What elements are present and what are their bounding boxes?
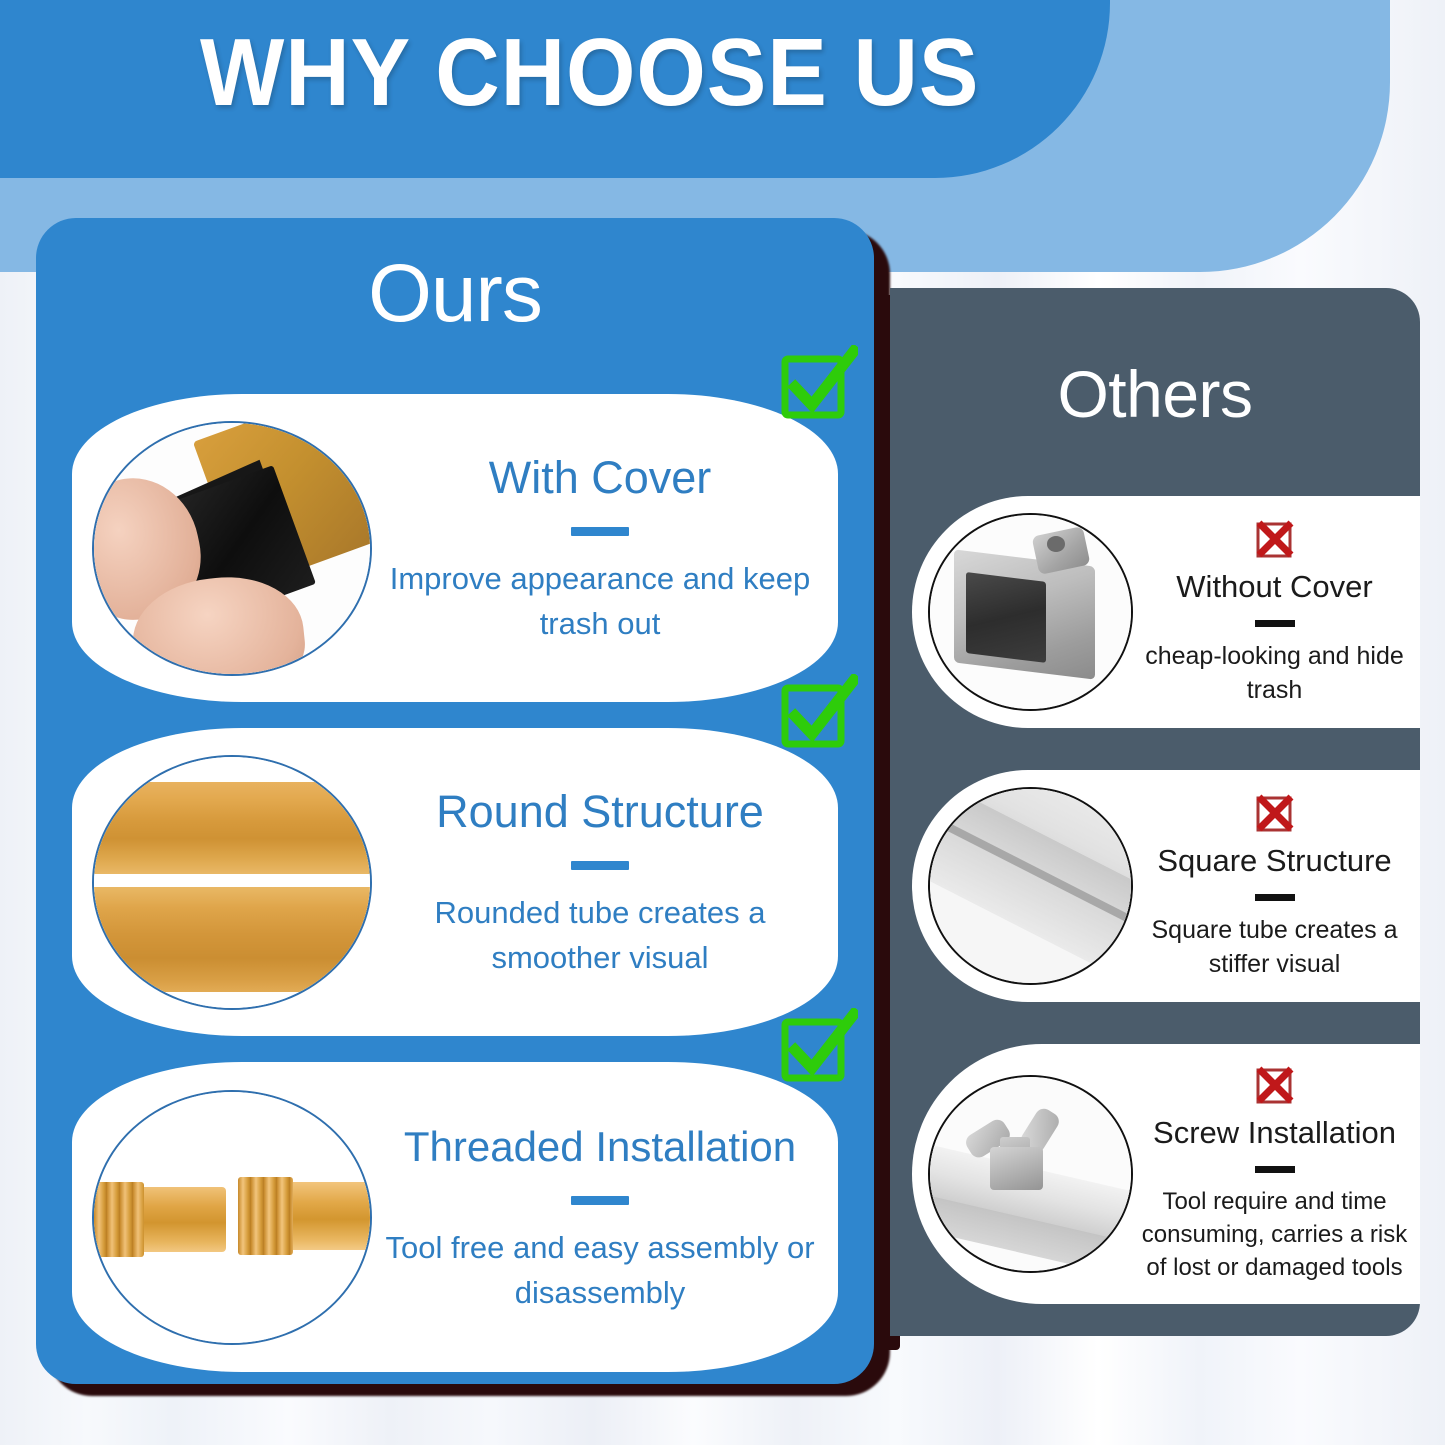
others-feature-card-2: Square Structure Square tube creates a s… <box>912 770 1420 1002</box>
green-check-icon <box>778 674 858 754</box>
ours-feature-title-3: Threaded Installation <box>378 1120 822 1174</box>
ours-panel: Ours With Cover Improve appearance and k… <box>36 218 874 1384</box>
others-feature-description-3: Tool require and time consuming, carries… <box>1137 1185 1412 1284</box>
others-feature-text-1: Without Cover cheap-looking and hide tra… <box>1133 518 1420 707</box>
others-feature-text-3: Screw Installation Tool require and time… <box>1133 1064 1420 1284</box>
others-feature-title-3: Screw Installation <box>1137 1114 1412 1152</box>
ours-feature-card-2: Round Structure Rounded tube creates a s… <box>72 728 838 1036</box>
round-gold-tube-photo <box>92 755 372 1010</box>
ours-divider-1 <box>571 527 629 536</box>
others-feature-description-2: Square tube creates a stiffer visual <box>1137 913 1412 981</box>
wing-nut-screw-photo <box>928 1075 1133 1273</box>
red-x-icon <box>1253 1064 1297 1108</box>
square-tube-opening-photo <box>928 513 1133 711</box>
ours-feature-text-3: Threaded Installation Tool free and easy… <box>372 1120 838 1315</box>
others-feature-title-2: Square Structure <box>1137 842 1412 880</box>
ours-feature-description-1: Improve appearance and keep trash out <box>378 556 822 646</box>
ours-feature-title-1: With Cover <box>378 451 822 505</box>
hand-holding-tube-with-black-cover-photo <box>92 421 372 676</box>
ours-divider-2 <box>571 861 629 870</box>
others-divider-1 <box>1255 620 1295 627</box>
others-feature-text-2: Square Structure Square tube creates a s… <box>1133 792 1420 981</box>
red-x-icon <box>1253 518 1297 562</box>
ours-feature-title-2: Round Structure <box>378 785 822 839</box>
infographic-root: WHY CHOOSE US Ours With Cover Improve ap… <box>0 0 1445 1445</box>
ours-feature-description-3: Tool free and easy assembly or disassemb… <box>378 1225 822 1315</box>
red-x-icon <box>1253 792 1297 836</box>
others-feature-description-1: cheap-looking and hide trash <box>1137 639 1412 707</box>
others-panel-title: Others <box>890 356 1420 432</box>
others-feature-card-1: Without Cover cheap-looking and hide tra… <box>912 496 1420 728</box>
others-feature-title-1: Without Cover <box>1137 568 1412 606</box>
green-check-icon <box>778 1008 858 1088</box>
ours-panel-title: Ours <box>36 248 874 340</box>
others-divider-2 <box>1255 894 1295 901</box>
others-feature-card-3: Screw Installation Tool require and time… <box>912 1044 1420 1304</box>
others-panel: Others Without Cover cheap-looking and h… <box>890 288 1420 1336</box>
ours-feature-description-2: Rounded tube creates a smoother visual <box>378 890 822 980</box>
square-tube-diagonal-photo <box>928 787 1133 985</box>
green-check-icon <box>778 345 858 425</box>
threaded-gold-tube-ends-photo <box>92 1090 372 1345</box>
ours-divider-3 <box>571 1196 629 1205</box>
ours-feature-card-1: With Cover Improve appearance and keep t… <box>72 394 838 702</box>
page-title: WHY CHOOSE US <box>200 18 944 128</box>
ours-feature-card-3: Threaded Installation Tool free and easy… <box>72 1062 838 1372</box>
ours-feature-text-2: Round Structure Rounded tube creates a s… <box>372 785 838 980</box>
ours-feature-text-1: With Cover Improve appearance and keep t… <box>372 451 838 646</box>
others-divider-3 <box>1255 1166 1295 1173</box>
